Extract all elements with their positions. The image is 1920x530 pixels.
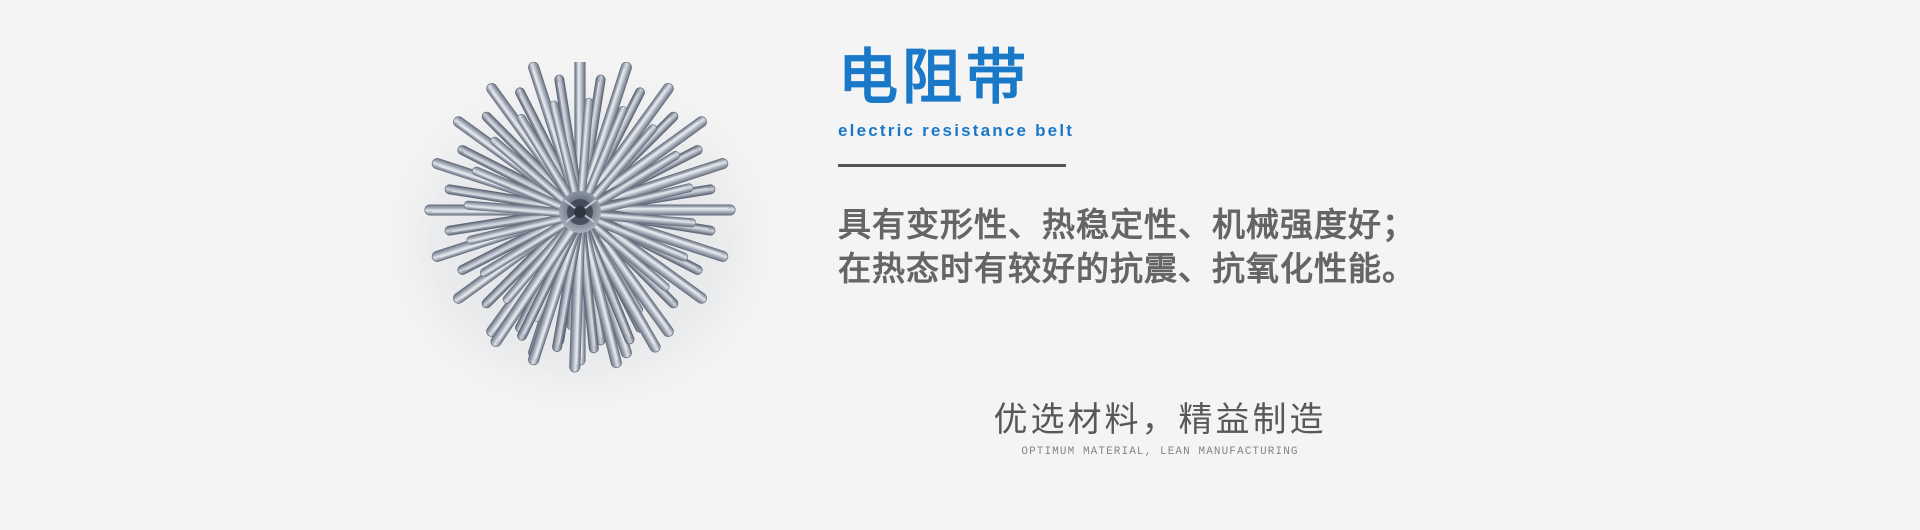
content-column: 电阻带 electric resistance belt 具有变形性、热稳定性、… bbox=[838, 42, 1818, 291]
tagline-block: 优选材料，精益制造 OPTIMUM MATERIAL, LEAN MANUFAC… bbox=[950, 398, 1370, 460]
bundle-core bbox=[559, 191, 601, 233]
product-image bbox=[360, 62, 800, 434]
page-subtitle: electric resistance belt bbox=[838, 118, 1818, 144]
tagline-english: OPTIMUM MATERIAL, LEAN MANUFACTURING bbox=[950, 444, 1370, 460]
title-divider bbox=[838, 164, 1066, 167]
description-line-2: 在热态时有较好的抗震、抗氧化性能。 bbox=[838, 247, 1818, 291]
resistance-belt-illustration bbox=[360, 62, 800, 434]
product-banner: 电阻带 electric resistance belt 具有变形性、热稳定性、… bbox=[0, 0, 1920, 530]
description-line-1: 具有变形性、热稳定性、机械强度好； bbox=[838, 203, 1818, 247]
tagline-chinese: 优选材料，精益制造 bbox=[950, 398, 1370, 442]
page-title: 电阻带 bbox=[838, 42, 1818, 114]
product-description: 具有变形性、热稳定性、机械强度好； 在热态时有较好的抗震、抗氧化性能。 bbox=[838, 203, 1818, 291]
